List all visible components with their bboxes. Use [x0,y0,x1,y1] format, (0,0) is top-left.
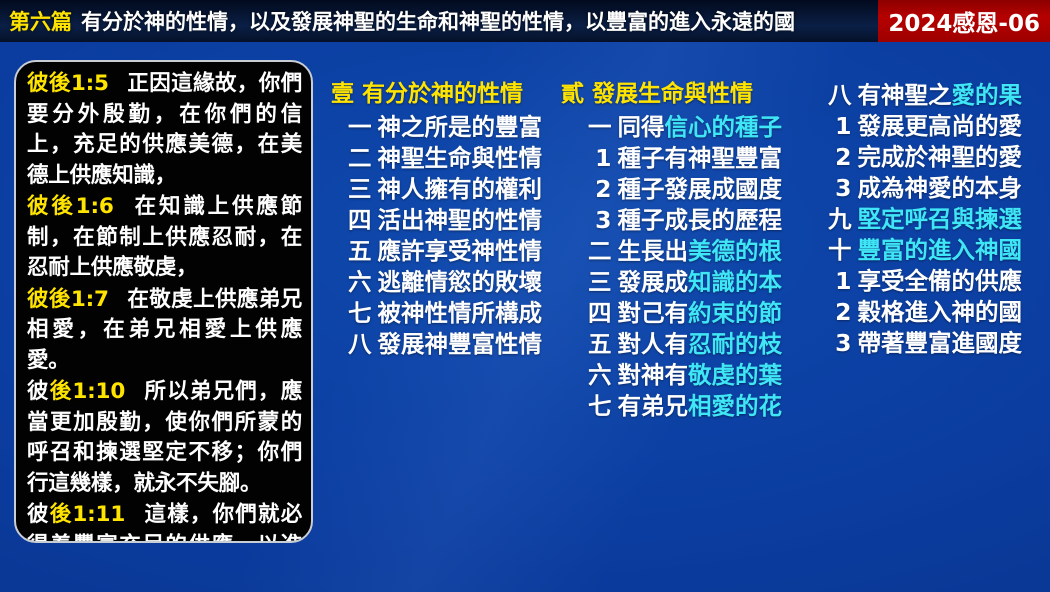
chapter-label: 第六篇 [9,6,72,36]
verse-ref-number: 後1:5 [49,71,109,96]
verse-line: 彼後1:6在知識上供應節制，在節制上供應忍耐，在忍耐上供應敬虔， [27,192,302,284]
outline-item-text: 對己有 [618,299,689,327]
outline-item-number: 2 [835,297,851,328]
outline-item: 1發展更高尚的愛 [800,111,1022,142]
outline-item-text: 活出神聖的性情 [378,206,543,234]
outline-item-text: 生長出 [618,237,689,265]
outline-item-number: 七 [588,391,612,422]
outline-items-2: 一同得信心的種子1種子有神聖豐富2種子發展成國度3種子成長的歷程二生長出美德的根… [560,112,782,422]
outline-item-highlight: 信心的種子 [665,113,783,141]
outline-item-number: 3 [835,173,851,204]
verse-ref-number: 後1:7 [49,287,109,312]
verse-ref-book: 彼 [27,502,50,527]
outline-item: 2完成於神聖的愛 [800,142,1022,173]
outline-item: 六對神有敬虔的葉 [560,360,782,391]
outline-item: 3帶著豐富進國度 [800,328,1022,359]
outline-item-number: 二 [348,143,372,174]
outline-item-text: 有弟兄 [618,392,689,420]
outline-item: 3種子成長的歷程 [560,205,782,236]
outline-item: 五對人有忍耐的枝 [560,329,782,360]
outline-item: 四對己有約束的節 [560,298,782,329]
outline-item-number: 2 [595,174,611,205]
outline-item: 二生長出美德的根 [560,236,782,267]
outline-item-text: 神聖生命與性情 [378,144,543,172]
header-title-wrap: 第六篇 有分於神的性情，以及發展神聖的生命和神聖的性情，以豐富的進入永遠的國 [0,6,795,36]
outline-item-highlight: 忍耐的枝 [688,330,782,358]
outline-item-number: 四 [588,298,612,329]
verse-ref-number: 後1:6 [51,194,113,219]
outline-item-text: 帶著豐富進國度 [858,329,1023,357]
outline-item-number: 五 [588,329,612,360]
outline-item: 七有弟兄相愛的花 [560,391,782,422]
outline-item-number: 九 [828,204,852,235]
outline-column-1: 壹 有分於神的性情 一神之所是的豐富二神聖生命與性情三神人擁有的權利四活出神聖的… [330,80,530,360]
outline-item: 十豐富的進入神國 [800,235,1022,266]
outline-column-3: 八有神聖之愛的果1發展更高尚的愛2完成於神聖的愛3成為神愛的本身九堅定呼召與揀選… [800,80,1022,359]
outline-item-number: 六 [348,267,372,298]
outline-item-number: 五 [348,236,372,267]
outline-item-number: 3 [835,328,851,359]
outline-heading-2: 貳 發展生命與性情 [560,80,782,109]
outline-item-highlight: 相愛的花 [688,392,782,420]
outline-item: 2種子發展成國度 [560,174,782,205]
outline-item-number: 1 [835,266,851,297]
page-title: 有分於神的性情，以及發展神聖的生命和神聖的性情，以豐富的進入永遠的國 [81,6,795,36]
outline-item-text: 發展成 [618,268,689,296]
outline-item-text: 完成於神聖的愛 [858,143,1023,171]
outline-item: 七被神性情所構成 [330,298,530,329]
outline-item-text: 對人有 [618,330,689,358]
verse-line: 彼後1:10所以弟兄們，應當更加殷勤，使你們所蒙的呼召和揀選堅定不移；你們行這幾… [27,377,302,499]
verse-ref-book: 彼 [27,379,50,404]
outline-item-text: 種子成長的歷程 [618,206,783,234]
outline-item-text: 逃離情慾的敗壞 [378,268,543,296]
outline-item-number: 八 [828,80,852,111]
scripture-panel: 彼後1:5正因這緣故，你們要分外殷勤，在你們的信上，充足的供應美德，在美德上供應… [14,60,313,543]
header-bar: 第六篇 有分於神的性情，以及發展神聖的生命和神聖的性情，以豐富的進入永遠的國 2… [0,0,1050,42]
outline-item-text: 享受全備的供應 [858,267,1023,295]
outline-item-number: 一 [588,112,612,143]
outline-column-2: 貳 發展生命與性情 一同得信心的種子1種子有神聖豐富2種子發展成國度3種子成長的… [560,80,782,422]
outline-item-number: 2 [835,142,851,173]
outline-item-text: 穀格進入神的國 [858,298,1023,326]
outline-item: 2穀格進入神的國 [800,297,1022,328]
verse-ref-number: 後1:10 [50,379,125,404]
verse-list: 彼後1:5正因這緣故，你們要分外殷勤，在你們的信上，充足的供應美德，在美德上供應… [27,69,302,543]
outline-item-text: 種子有神聖豐富 [618,144,783,172]
outline-item-text: 被神性情所構成 [378,299,543,327]
outline-item-highlight: 豐富的進入神國 [858,236,1023,264]
outline-item-text: 成為神愛的本身 [858,174,1023,202]
outline-item-text: 神人擁有的權利 [378,175,543,203]
verse-line: 彼後1:11這樣，你們就必得着豐富充足的供應，以進入我們主和救主耶穌基督永遠的國… [27,500,302,543]
outline-heading-1: 壹 有分於神的性情 [330,80,530,109]
outline-item: 八發展神豐富性情 [330,329,530,360]
outline-item: 六逃離情慾的敗壞 [330,267,530,298]
verse-ref-book: 彼 [27,71,49,96]
verse-line: 彼後1:7在敬虔上供應弟兄相愛，在弟兄相愛上供應愛。 [27,285,302,377]
outline-item-number: 七 [348,298,372,329]
series-badge: 2024感恩-06 [878,0,1050,42]
outline-item-highlight: 愛的果 [952,81,1023,109]
verse-ref-book: 彼 [27,194,51,219]
outline-item: 一神之所是的豐富 [330,112,530,143]
outline-item-text: 同得 [618,113,665,141]
slide-root: 第六篇 有分於神的性情，以及發展神聖的生命和神聖的性情，以豐富的進入永遠的國 2… [0,0,1050,592]
outline-item-number: 十 [828,235,852,266]
outline-item-highlight: 知識的本 [688,268,782,296]
outline-item-number: 八 [348,329,372,360]
outline-item-number: 3 [595,205,611,236]
verse-line: 彼後1:5正因這緣故，你們要分外殷勤，在你們的信上，充足的供應美德，在美德上供應… [27,69,302,191]
outline-item: 1種子有神聖豐富 [560,143,782,174]
outline-item-text: 發展神豐富性情 [378,330,543,358]
outline-item-number: 一 [348,112,372,143]
outline-item-text: 應許享受神性情 [378,237,543,265]
outline-item-highlight: 約束的節 [688,299,782,327]
outline-item-number: 六 [588,360,612,391]
outline-item: 八有神聖之愛的果 [800,80,1022,111]
outline-items-1: 一神之所是的豐富二神聖生命與性情三神人擁有的權利四活出神聖的性情五應許享受神性情… [330,112,530,360]
outline-item-text: 種子發展成國度 [618,175,783,203]
outline-item: 三神人擁有的權利 [330,174,530,205]
verse-ref-number: 後1:11 [50,502,125,527]
outline-item-text: 發展更高尚的愛 [858,112,1023,140]
outline-item: 三發展成知識的本 [560,267,782,298]
outline-item-text: 對神有 [618,361,689,389]
outline-item-number: 二 [588,236,612,267]
outline-item-number: 三 [348,174,372,205]
outline-item: 九堅定呼召與揀選 [800,204,1022,235]
outline-item: 3成為神愛的本身 [800,173,1022,204]
outline-item-highlight: 堅定呼召與揀選 [858,205,1023,233]
outline-item: 五應許享受神性情 [330,236,530,267]
outline-item-highlight: 美德的根 [688,237,782,265]
outline-item-number: 1 [835,111,851,142]
outline-items-3: 八有神聖之愛的果1發展更高尚的愛2完成於神聖的愛3成為神愛的本身九堅定呼召與揀選… [800,80,1022,359]
outline-item: 一同得信心的種子 [560,112,782,143]
outline-item: 二神聖生命與性情 [330,143,530,174]
outline-item: 1享受全備的供應 [800,266,1022,297]
outline-item-number: 三 [588,267,612,298]
outline-item-number: 1 [595,143,611,174]
outline-item-text: 有神聖之 [858,81,952,109]
outline-item-highlight: 敬虔的葉 [688,361,782,389]
outline-item-number: 四 [348,205,372,236]
outline-item-text: 神之所是的豐富 [378,113,543,141]
verse-ref-book: 彼 [27,287,49,312]
outline-item: 四活出神聖的性情 [330,205,530,236]
